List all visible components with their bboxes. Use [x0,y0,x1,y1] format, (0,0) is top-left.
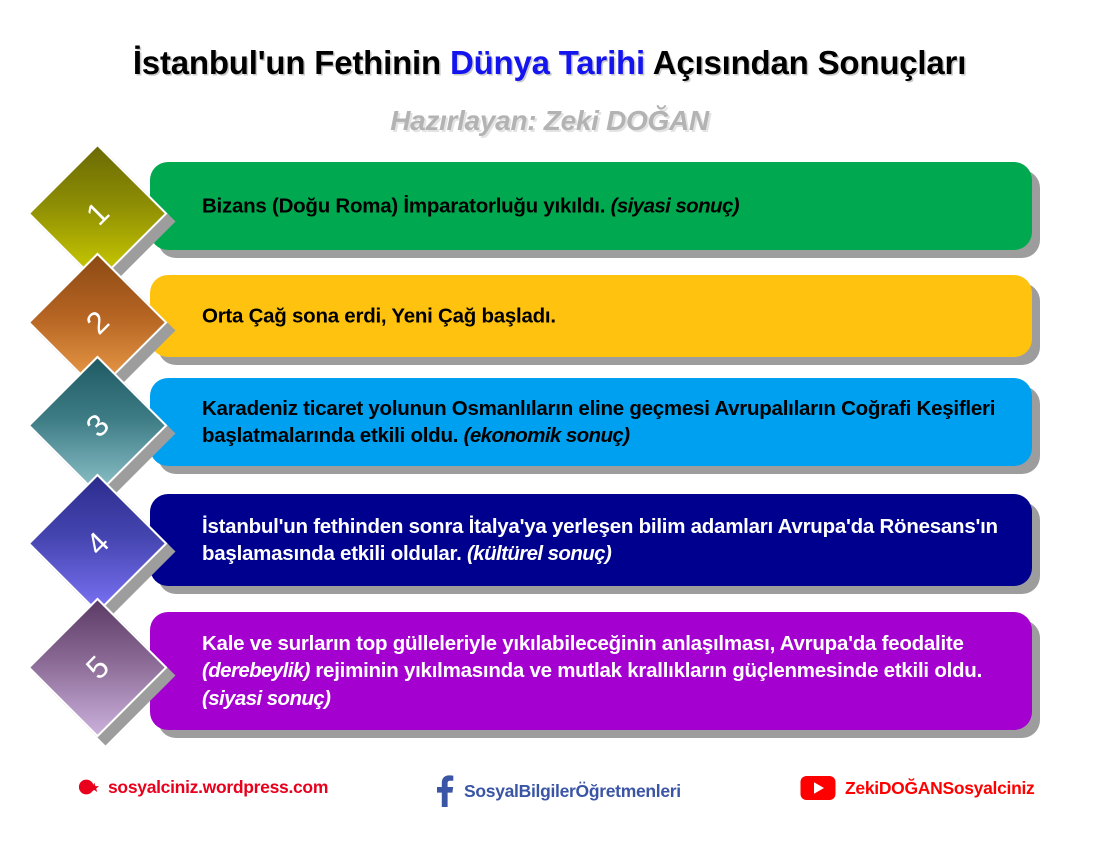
result-note: (kültürel sonuç) [467,542,611,565]
footer: sosyalciniz.wordpress.com SosyalBilgiler… [0,770,1099,825]
page-title: İstanbul'un Fethinin Dünya Tarihi Açısın… [0,44,1099,82]
link-wordpress-label: sosyalciniz.wordpress.com [108,777,328,798]
title-part-1: İstanbul'un Fethinin [133,44,450,81]
result-note: (ekonomik sonuç) [464,424,630,447]
link-facebook[interactable]: SosyalBilgilerÖğretmenleri [435,774,681,808]
list-item: Karadeniz ticaret yolunun Osmanlıların e… [0,378,1099,486]
result-text-3: Karadeniz ticaret yolunun Osmanlıların e… [202,395,1008,450]
link-facebook-label: SosyalBilgilerÖğretmenleri [464,781,681,802]
link-wordpress[interactable]: sosyalciniz.wordpress.com [73,776,328,798]
list-item: Bizans (Doğu Roma) İmparatorluğu yıkıldı… [0,162,1099,267]
result-bar-2[interactable]: Orta Çağ sona erdi, Yeni Çağ başladı. [150,275,1032,357]
result-text-5: Kale ve surların top gülleleriyle yıkıla… [202,630,1008,712]
result-text-1: Bizans (Doğu Roma) İmparatorluğu yıkıldı… [202,192,1008,219]
list-item: Kale ve surların top gülleleriyle yıkıla… [0,612,1099,752]
step-badge-5[interactable]: 5 [48,618,188,758]
result-text-2: Orta Çağ sona erdi, Yeni Çağ başladı. [202,302,1008,329]
facebook-icon [435,774,455,808]
result-bar-4[interactable]: İstanbul'un fethinden sonra İtalya'ya ye… [150,494,1032,586]
result-main-text: Orta Çağ sona erdi, Yeni Çağ başladı. [202,304,556,327]
result-main-text-2: rejiminin yıkılmasında ve mutlak krallık… [310,659,982,682]
result-bar-1[interactable]: Bizans (Doğu Roma) İmparatorluğu yıkıldı… [150,162,1032,250]
header: İstanbul'un Fethinin Dünya Tarihi Açısın… [0,0,1099,150]
result-bar-3[interactable]: Karadeniz ticaret yolunun Osmanlıların e… [150,378,1032,466]
youtube-icon [800,775,836,801]
list-item: İstanbul'un fethinden sonra İtalya'ya ye… [0,494,1099,609]
result-inline-note: (derebeylik) [202,659,310,682]
result-main-text: Kale ve surların top gülleleriyle yıkıla… [202,632,964,655]
list-item: Orta Çağ sona erdi, Yeni Çağ başladı. 2 [0,275,1099,380]
title-accent: Dünya Tarihi [450,44,645,81]
result-note: (siyasi sonuç) [202,687,330,710]
result-text-4: İstanbul'un fethinden sonra İtalya'ya ye… [202,513,1008,568]
subtitle-author: Hazırlayan: Zeki DOĞAN [0,105,1099,137]
result-bar-5[interactable]: Kale ve surların top gülleleriyle yıkıla… [150,612,1032,730]
step-number-5: 5 [27,597,167,737]
result-note: (siyasi sonuç) [611,194,739,217]
link-youtube-label: ZekiDOĞANSosyalciniz [845,778,1034,799]
title-part-2: Açısından Sonuçları [645,44,966,81]
turkish-flag-icon [73,776,99,798]
link-youtube[interactable]: ZekiDOĞANSosyalciniz [800,775,1034,801]
result-main-text: Bizans (Doğu Roma) İmparatorluğu yıkıldı… [202,194,611,217]
step-number-4: 4 [27,473,167,613]
